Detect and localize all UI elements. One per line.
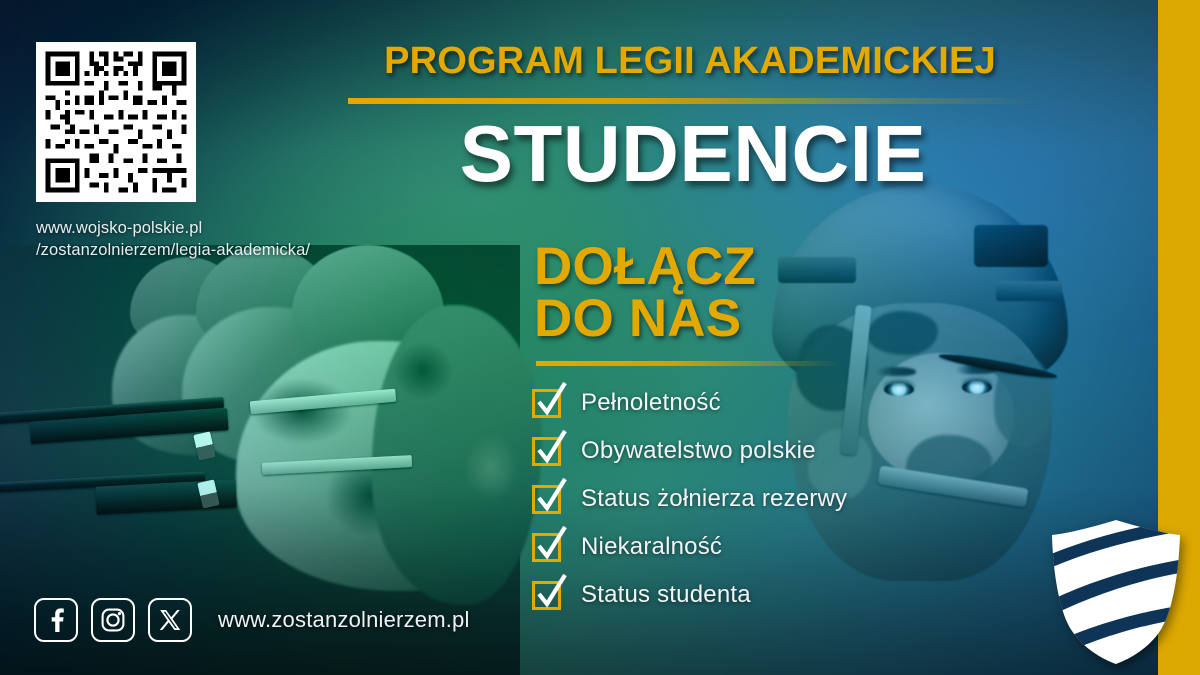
list-item: Obywatelstwo polskie xyxy=(532,428,847,474)
qr-url-text: www.wojsko-polskie.pl /zostanzolnierzem/… xyxy=(36,218,396,262)
shield-logo xyxy=(1046,517,1186,667)
list-item: Status żołnierza rezerwy xyxy=(532,476,847,522)
qr-block: www.wojsko-polskie.pl /zostanzolnierzem/… xyxy=(36,42,396,262)
requirement-label: Status żołnierza rezerwy xyxy=(581,485,847,513)
qr-code-icon[interactable] xyxy=(36,42,196,202)
cta-line-2: DO NAS xyxy=(534,293,756,345)
poster-canvas: www.wojsko-polskie.pl /zostanzolnierzem/… xyxy=(0,0,1200,675)
cta-line-1: DOŁĄCZ xyxy=(534,241,756,293)
list-item: Status studenta xyxy=(532,572,847,618)
header-divider xyxy=(348,98,1036,104)
vertical-slogan: Patriotyzm | Wyzwanie | Pasja xyxy=(1078,40,1200,510)
footer-url-text[interactable]: www.zostanzolnierzem.pl xyxy=(218,607,470,633)
cta-headline: DOŁĄCZ DO NAS xyxy=(534,241,756,345)
requirement-label: Status studenta xyxy=(581,581,751,609)
cta-divider xyxy=(536,361,841,366)
requirement-label: Obywatelstwo polskie xyxy=(581,437,816,465)
facebook-icon[interactable] xyxy=(34,598,78,642)
page-title: STUDENCIE xyxy=(348,114,1038,194)
instagram-icon[interactable] xyxy=(91,598,135,642)
checkmark-icon xyxy=(532,389,561,418)
requirement-label: Pełnoletność xyxy=(581,389,721,417)
x-twitter-icon[interactable] xyxy=(148,598,192,642)
requirement-label: Niekaralność xyxy=(581,533,722,561)
checkmark-icon xyxy=(532,581,561,610)
requirements-list: Pełnoletność Obywatelstwo polskie Status… xyxy=(532,380,847,620)
checkmark-icon xyxy=(532,485,561,514)
program-kicker: PROGRAM LEGII AKADEMICKIEJ xyxy=(345,40,1035,83)
footer-bar: www.zostanzolnierzem.pl xyxy=(34,598,470,642)
checkmark-icon xyxy=(532,437,561,466)
list-item: Niekaralność xyxy=(532,524,847,570)
checkmark-icon xyxy=(532,533,561,562)
list-item: Pełnoletność xyxy=(532,380,847,426)
